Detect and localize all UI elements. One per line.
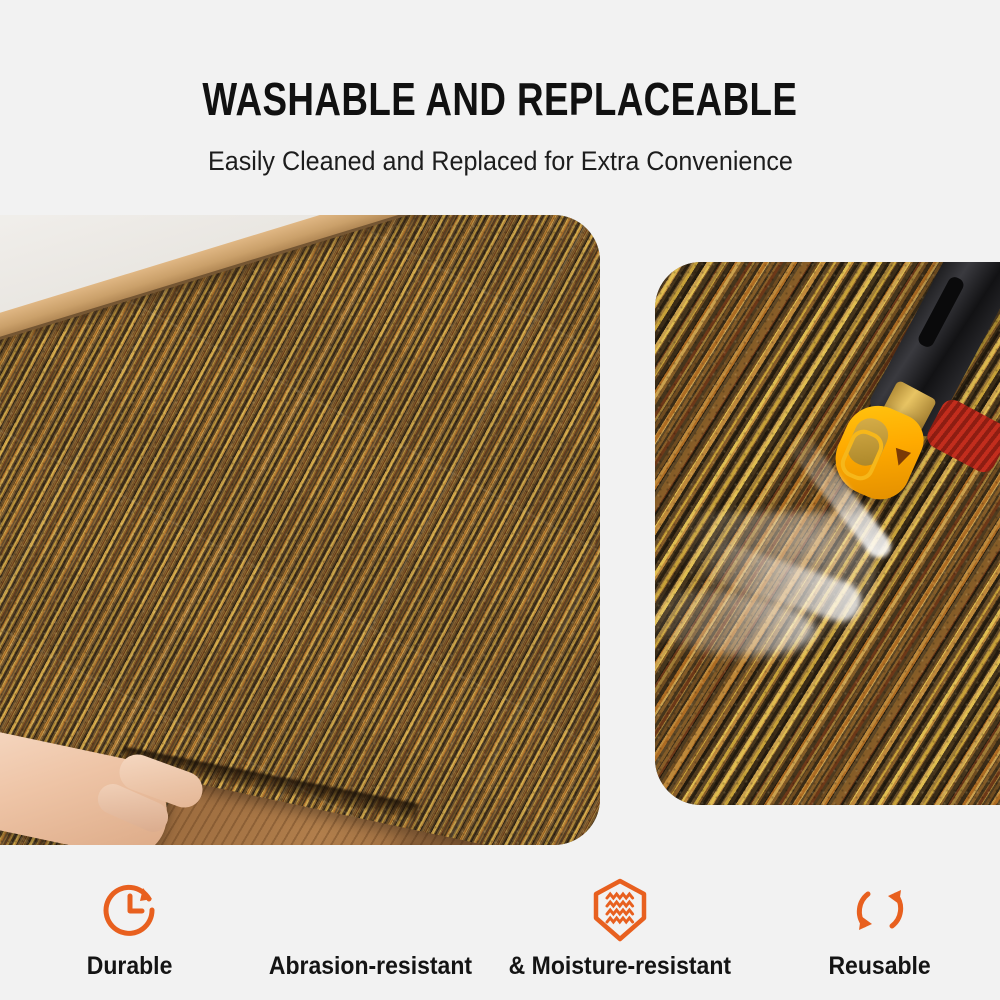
feature-durable: Durable <box>30 858 230 1000</box>
feature-moisture-resistant: & Moisture-resistant <box>480 858 760 1000</box>
page-subtitle: Easily Cleaned and Replaced for Extra Co… <box>208 146 793 177</box>
feature-row: Durable Abrasion-resistant & Moisture-re… <box>0 858 1000 1000</box>
carpet-tile-replacement-photo <box>0 215 600 845</box>
photo-panels <box>0 215 1000 855</box>
header-banner: WASHABLE AND REPLACEABLE Easily Cleaned … <box>0 0 1000 215</box>
feature-reusable: Reusable <box>780 858 980 1000</box>
clock-refresh-icon <box>99 876 161 944</box>
feature-label: Reusable <box>829 952 931 981</box>
feature-label: Abrasion-resistant <box>268 952 471 981</box>
feature-abrasion-resistant: Abrasion-resistant <box>260 858 480 1000</box>
pressure-washing-carpet-photo <box>655 262 1000 805</box>
feature-label: Durable <box>87 952 173 981</box>
shield-waves-icon <box>589 876 651 944</box>
reuse-loop-icon <box>849 876 911 944</box>
feature-label: & Moisture-resistant <box>509 952 731 981</box>
page-title: WASHABLE AND REPLACEABLE <box>202 76 797 122</box>
